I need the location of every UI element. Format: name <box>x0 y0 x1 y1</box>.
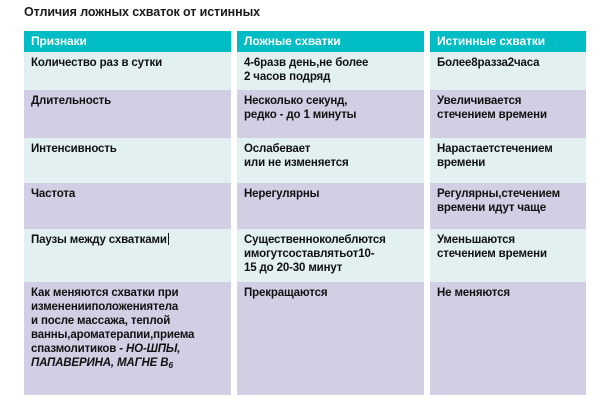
cell-text-line: Более8разза2часа <box>437 56 580 70</box>
cell-text-line: Интенсивность <box>31 142 225 156</box>
cell-text-line: и после массажа, теплой <box>31 314 225 328</box>
cell-text-line: ПАПАВЕРИНА, МАГНЕ В6 <box>31 356 225 370</box>
cell-false-labor: Прекращаются <box>237 282 424 395</box>
cell-true-labor: Нарастаетстечением времени <box>430 138 586 183</box>
cell-text-line: 4-6разв день,не более <box>244 56 418 70</box>
cell-true-labor: Не меняются <box>430 282 586 395</box>
cell-text-line: Ослабевает <box>244 142 418 156</box>
cell-text-line: Длительность <box>31 94 225 108</box>
cell-text-emphasis: ПАПАВЕРИНА, МАГНЕ В <box>31 357 168 369</box>
cell-feature: Интенсивность <box>24 138 231 183</box>
comparison-table: Признаки Ложные схватки Истинные схватки… <box>24 31 586 395</box>
table-row: Частота Нерегулярны Регулярны,стечением … <box>24 183 586 229</box>
cell-text: спазмолитиков - <box>31 343 126 355</box>
cell-false-labor: Ослабевает или не изменяется <box>237 138 424 183</box>
page-title: Отличия ложных схваток от истинных <box>24 5 260 19</box>
cell-text-line: редко - до 1 минуты <box>244 108 418 122</box>
cell-text-emphasis: НО-ШПЫ, <box>126 343 180 355</box>
table-header-row: Признаки Ложные схватки Истинные схватки <box>24 31 586 52</box>
cell-text-line: Нерегулярны <box>244 187 418 201</box>
cell-text-line: Регулярны,стечением <box>437 187 580 201</box>
cell-false-labor: Несколько секунд, редко - до 1 минуты <box>237 90 424 138</box>
column-header-false-labor: Ложные схватки <box>237 31 424 52</box>
cell-true-labor: Регулярны,стечением времени идут чаще <box>430 183 586 229</box>
cell-text-line: имогутсоставлятьот10- <box>244 247 418 261</box>
cell-false-labor: Нерегулярны <box>237 183 424 229</box>
cell-text-line: Уменьшаются <box>437 233 580 247</box>
cell-false-labor: Существенноколеблются имогутсоставлятьот… <box>237 229 424 282</box>
cell-text-line: стечением времени <box>437 247 580 261</box>
cell-text-line: спазмолитиков - НО-ШПЫ, <box>31 342 225 356</box>
cell-text-line: Не меняются <box>437 286 580 300</box>
cell-true-labor: Увеличивается стечением времени <box>430 90 586 138</box>
table-row: Как меняются схватки при измененииположе… <box>24 282 586 395</box>
column-header-true-labor: Истинные схватки <box>430 31 586 52</box>
cell-text-line: стечением времени <box>437 108 580 122</box>
cell-text-line: измененииположениятела <box>31 300 225 314</box>
cell-text-line: времени идут чаще <box>437 201 580 215</box>
cell-feature: Как меняются схватки при измененииположе… <box>24 282 231 395</box>
cell-text-line: Существенноколеблются <box>244 233 418 247</box>
cell-true-labor: Уменьшаются стечением времени <box>430 229 586 282</box>
cell-text-line: 2 часов подряд <box>244 70 418 84</box>
cell-text-line: 15 до 20-30 минут <box>244 261 418 275</box>
table-row: Интенсивность Ослабевает или не изменяет… <box>24 138 586 183</box>
cell-text: Паузы между схватками <box>31 234 167 246</box>
column-header-features: Признаки <box>24 31 231 52</box>
table-row: Паузы между схватками Существенноколеблю… <box>24 229 586 282</box>
cell-text-line: Количество раз в сутки <box>31 56 225 70</box>
table-row: Длительность Несколько секунд, редко - д… <box>24 90 586 138</box>
cell-text-line: Частота <box>31 187 225 201</box>
cell-text-line: Паузы между схватками <box>31 233 225 247</box>
cell-text-line: Увеличивается <box>437 94 580 108</box>
cell-false-labor: 4-6разв день,не более 2 часов подряд <box>237 52 424 90</box>
cell-text-line: или не изменяется <box>244 156 418 170</box>
cell-feature: Частота <box>24 183 231 229</box>
cell-feature: Количество раз в сутки <box>24 52 231 90</box>
cell-text-line: Как меняются схватки при <box>31 286 225 300</box>
cell-text-line: времени <box>437 156 580 170</box>
cell-text-line: ванны,ароматерапии,приема <box>31 328 225 342</box>
cell-feature: Длительность <box>24 90 231 138</box>
cell-feature: Паузы между схватками <box>24 229 231 282</box>
text-caret <box>168 233 169 245</box>
cell-text-subscript: 6 <box>168 360 173 370</box>
cell-text-line: Прекращаются <box>244 286 418 300</box>
cell-true-labor: Более8разза2часа <box>430 52 586 90</box>
table-row: Количество раз в сутки 4-6разв день,не б… <box>24 52 586 90</box>
cell-text-line: Нарастаетстечением <box>437 142 580 156</box>
cell-text-line: Несколько секунд, <box>244 94 418 108</box>
